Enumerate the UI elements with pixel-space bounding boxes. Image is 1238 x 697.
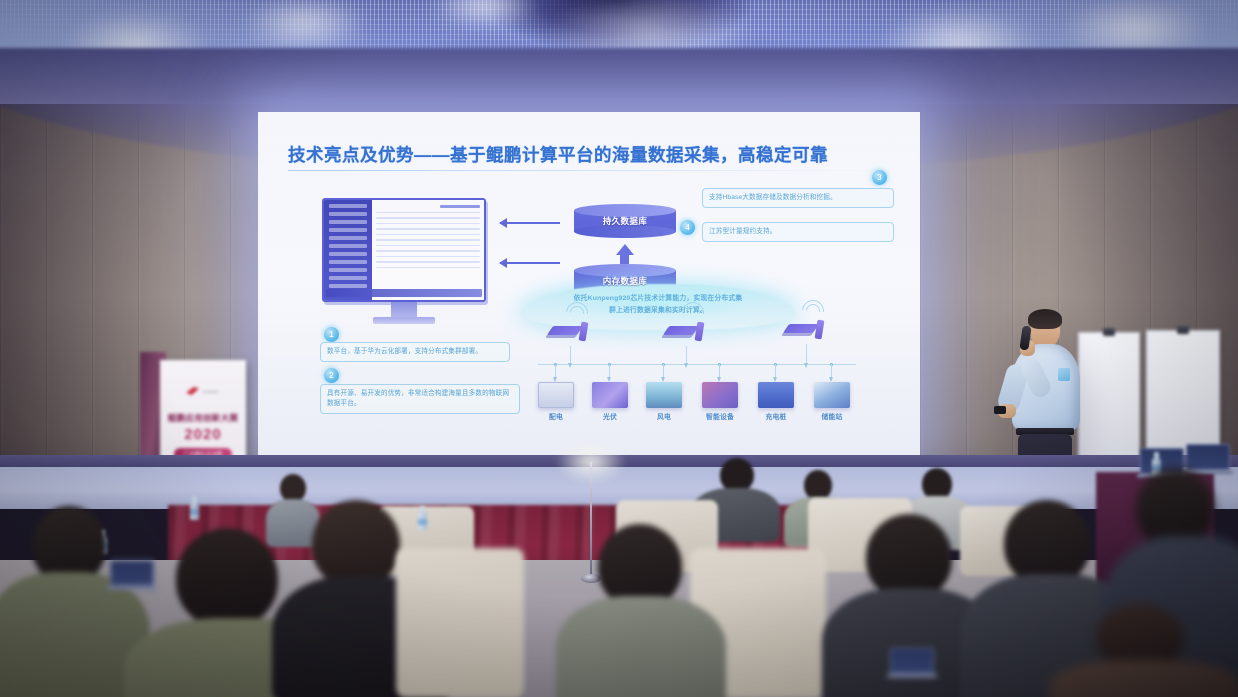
chair-near-1 (396, 548, 524, 697)
device-drop-5 (775, 364, 776, 378)
callout-box-2: 具有开源、易开发的优势，非常适合构建海量且多数的物联网数据平台。 (320, 384, 520, 414)
laptop-audience-1-base (107, 586, 157, 590)
projection-screen: 技术亮点及优势——基于鲲鹏计算平台的海量数据采集，高稳定可靠 (258, 112, 920, 460)
device-item-1: 光伏 (589, 382, 631, 421)
device-item-0: 配电 (535, 382, 577, 421)
callout-box-1: 数平台，基于华为云化部署，支持分布式集群部署。 (320, 342, 510, 362)
database-label-persistent: 持久数据库 (574, 204, 676, 238)
presentation-photo-scene: 技术亮点及优势——基于鲲鹏计算平台的海量数据采集，高稳定可靠 (0, 0, 1238, 697)
attendee-near-4-body (556, 596, 726, 697)
attendee-far-1-head (280, 474, 306, 502)
attendee-near-8-body (1050, 660, 1238, 697)
callout-box-4: 江苏型计量规约支持。 (702, 222, 894, 242)
laptop-audience-2-screen (890, 648, 934, 674)
device-drop-3 (663, 364, 664, 378)
device-thumb-charging-pile-icon (758, 382, 794, 408)
device-item-5: 储能站 (811, 382, 853, 421)
attendee-far-2-head (720, 458, 754, 492)
device-thumb-solar-icon (592, 382, 628, 408)
device-label-0: 配电 (535, 411, 577, 421)
access-point-3 (786, 318, 826, 344)
slide-content: 技术亮点及优势——基于鲲鹏计算平台的海量数据采集，高稳定可靠 (258, 112, 920, 460)
whiteboard-clip-right (1177, 326, 1189, 334)
arrow-up-mid (616, 244, 634, 255)
database-label-memory: 内存数据库 (574, 264, 676, 298)
callout-text-1: 数平台，基于华为云化部署，支持分布式集群部署。 (327, 348, 482, 355)
presenter-badge-logo (1058, 368, 1070, 381)
device-item-2: 风电 (643, 382, 685, 421)
laptop-2-screen (1186, 444, 1230, 470)
laptop-audience-1-screen (110, 560, 154, 586)
device-thumb-wind-icon (646, 382, 682, 408)
slide-title: 技术亮点及优势——基于鲲鹏计算平台的海量数据采集，高稳定可靠 (288, 142, 828, 167)
banner-brand-word: HUAWEI (202, 389, 219, 394)
device-drop-4 (719, 364, 720, 378)
device-label-3: 智能设备 (699, 411, 741, 421)
arrow-to-monitor-bottom (500, 262, 560, 264)
laptop-audience-2-base (887, 674, 937, 678)
device-bus-line (538, 364, 856, 365)
monitor-sidebar (324, 200, 372, 300)
device-label-5: 储能站 (811, 411, 853, 421)
device-label-4: 充电桩 (755, 411, 797, 421)
callout-text-3: 支持Hbase大数据存储及数据分析和挖掘。 (709, 194, 837, 201)
callout-badge-1: 1 (324, 327, 339, 342)
presenter-hair (1028, 309, 1062, 329)
device-drop-2 (609, 364, 610, 378)
monitor-mockup (322, 198, 486, 302)
huawei-swoosh-icon (186, 387, 199, 395)
laptop-audience-1 (110, 560, 157, 590)
database-cylinder-memory: 内存数据库 (574, 264, 676, 298)
device-thumb-distribution-icon (538, 382, 574, 408)
callout-box-3: 支持Hbase大数据存储及数据分析和挖掘。 (702, 188, 894, 208)
attendee-near-3-head (312, 500, 400, 588)
callout-text-2: 具有开源、易开发的优势，非常适合构建海量且多数的物联网数据平台。 (327, 390, 509, 407)
arrow-to-monitor-top (500, 222, 560, 224)
attendee-near-4 (560, 524, 720, 697)
monitor-table-area (372, 200, 484, 300)
device-thumb-smart-equipment-icon (702, 382, 738, 408)
callout-badge-2: 2 (324, 368, 339, 383)
device-drop-1 (555, 364, 556, 378)
monitor-foot (373, 317, 435, 324)
clicker-device-icon (994, 406, 1006, 414)
callout-text-4: 江苏型计量规约支持。 (709, 228, 776, 235)
arrow-stem-mid (620, 254, 629, 264)
attendee-near-8 (1040, 604, 1238, 697)
device-drop-6 (831, 364, 832, 378)
monitor-bottom-bar (326, 289, 482, 297)
title-underline (288, 170, 888, 171)
callout-badge-4: 4 (680, 220, 695, 235)
monitor-screen (322, 198, 486, 302)
attendee-far-3-head (804, 470, 832, 500)
banner-title: 鲲鹏应用创新大赛 (160, 412, 246, 424)
banner-year: 2020 (160, 426, 246, 443)
ap-drop-3 (806, 344, 807, 364)
water-bottle-1 (190, 496, 199, 520)
ap-drop-2 (686, 346, 687, 364)
device-thumb-energy-storage-icon (814, 382, 850, 408)
callout-badge-3: 3 (872, 170, 887, 185)
attendee-near-2-head (176, 528, 278, 628)
whiteboard-right (1146, 330, 1220, 458)
ap-drop-1 (570, 346, 571, 364)
device-item-4: 充电桩 (755, 382, 797, 421)
access-point-2 (666, 320, 706, 346)
device-item-3: 智能设备 (699, 382, 741, 421)
device-label-2: 风电 (643, 411, 685, 421)
device-label-1: 光伏 (589, 411, 631, 421)
access-point-1 (550, 320, 590, 346)
banner-logo: HUAWEI (186, 386, 222, 396)
attendee-near-1 (0, 506, 140, 697)
database-cylinder-persistent: 持久数据库 (574, 204, 676, 238)
laptop-audience-2 (890, 648, 937, 678)
monitor-neck (391, 302, 417, 318)
